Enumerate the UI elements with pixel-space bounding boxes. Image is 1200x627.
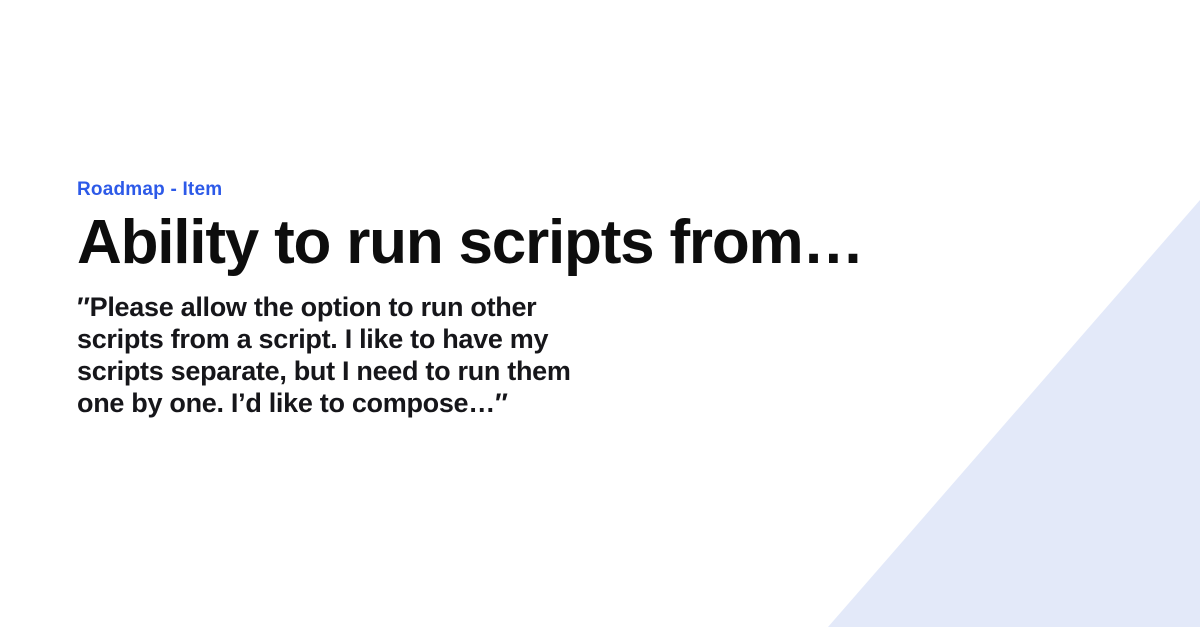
breadcrumb-eyebrow: Roadmap - Item [77, 178, 977, 202]
page-title: Ability to run scripts from… [77, 209, 977, 277]
share-card: Roadmap - Item Ability to run scripts fr… [0, 0, 1200, 627]
card-content: Roadmap - Item Ability to run scripts fr… [77, 178, 977, 419]
item-excerpt-quote: ″Please allow the option to run other sc… [77, 291, 613, 419]
